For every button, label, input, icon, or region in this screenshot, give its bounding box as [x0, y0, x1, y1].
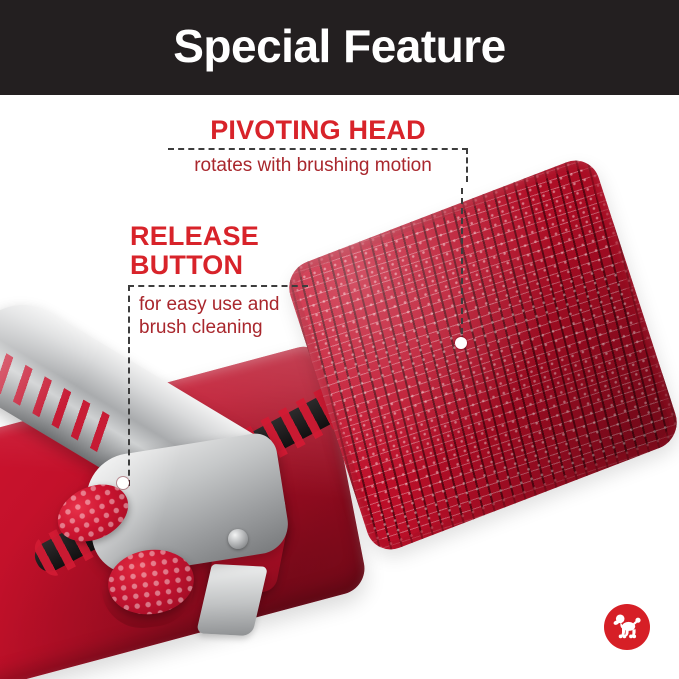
poodle-logo: [604, 604, 650, 650]
callout-pivoting-head: PIVOTING HEAD rotates with brushing moti…: [168, 116, 468, 182]
callout-release-button-title: RELEASE BUTTON: [128, 222, 308, 279]
callout-release-button-description: for easy use and brush cleaning: [128, 285, 308, 343]
infographic-canvas: Special Feature: [0, 0, 679, 679]
release-button-texture: [104, 544, 198, 619]
callout-release-button-description-line2: brush cleaning: [139, 316, 308, 339]
callout-pivoting-head-description: rotates with brushing motion: [168, 148, 468, 182]
red-release-button[interactable]: [104, 544, 198, 619]
callout-release-button-description-line1: for easy use and: [139, 293, 308, 316]
callout-pivoting-head-title: PIVOTING HEAD: [168, 116, 468, 144]
callout-pivoting-head-marker-dot: [455, 337, 467, 349]
product-photo: [0, 95, 679, 679]
poodle-icon: [610, 610, 644, 644]
pivot-screw: [228, 529, 248, 549]
callout-release-button: RELEASE BUTTON for easy use and brush cl…: [128, 222, 308, 344]
callout-pivoting-head-leader-line: [461, 188, 463, 344]
callout-release-button-title-line1: RELEASE: [130, 222, 308, 251]
callout-release-button-leader-line: [128, 296, 130, 486]
callout-release-button-title-line2: BUTTON: [130, 251, 308, 280]
callout-release-button-marker-dot: [117, 477, 129, 489]
page-title: Special Feature: [0, 0, 679, 95]
